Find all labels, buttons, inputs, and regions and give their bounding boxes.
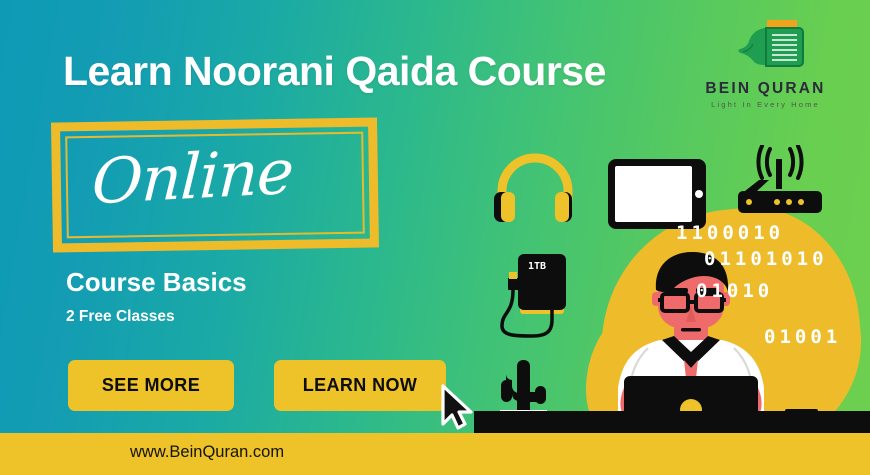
mouse-cursor-arrow-icon <box>440 384 476 430</box>
binary-code-line: 1100010 <box>676 222 784 244</box>
promo-banner: Learn Noorani Qaida Course BEIN QURAN Li… <box>0 0 870 475</box>
headphones-icon <box>492 148 578 228</box>
page-title: Learn Noorani Qaida Course <box>63 48 606 95</box>
desk-surface <box>474 411 870 433</box>
external-hard-drive-icon: 1TB <box>494 252 570 350</box>
logo-name: BEIN QURAN <box>693 80 838 98</box>
section-subtitle: 2 Free Classes <box>66 308 175 326</box>
see-more-button[interactable]: SEE MORE <box>68 360 234 411</box>
website-url: www.BeinQuran.com <box>130 443 284 462</box>
section-title: Course Basics <box>66 267 247 298</box>
logo-tagline: Light In Every Home <box>693 100 838 109</box>
wifi-router-icon <box>731 145 829 225</box>
learn-now-button[interactable]: LEARN NOW <box>274 360 446 411</box>
open-book-with-reader-icon <box>711 16 821 78</box>
binary-code-line: 01010 <box>696 280 773 302</box>
footer-bar: www.BeinQuran.com <box>0 433 870 475</box>
online-script-label: Online <box>90 135 295 219</box>
brand-logo: BEIN QURAN Light In Every Home <box>693 16 838 109</box>
harddrive-capacity-label: 1TB <box>528 261 546 272</box>
man-with-laptop-icon <box>596 248 786 438</box>
tablet-icon <box>607 158 707 230</box>
binary-code-line: 01001 <box>764 326 841 348</box>
binary-code-line: 01101010 <box>704 248 828 270</box>
